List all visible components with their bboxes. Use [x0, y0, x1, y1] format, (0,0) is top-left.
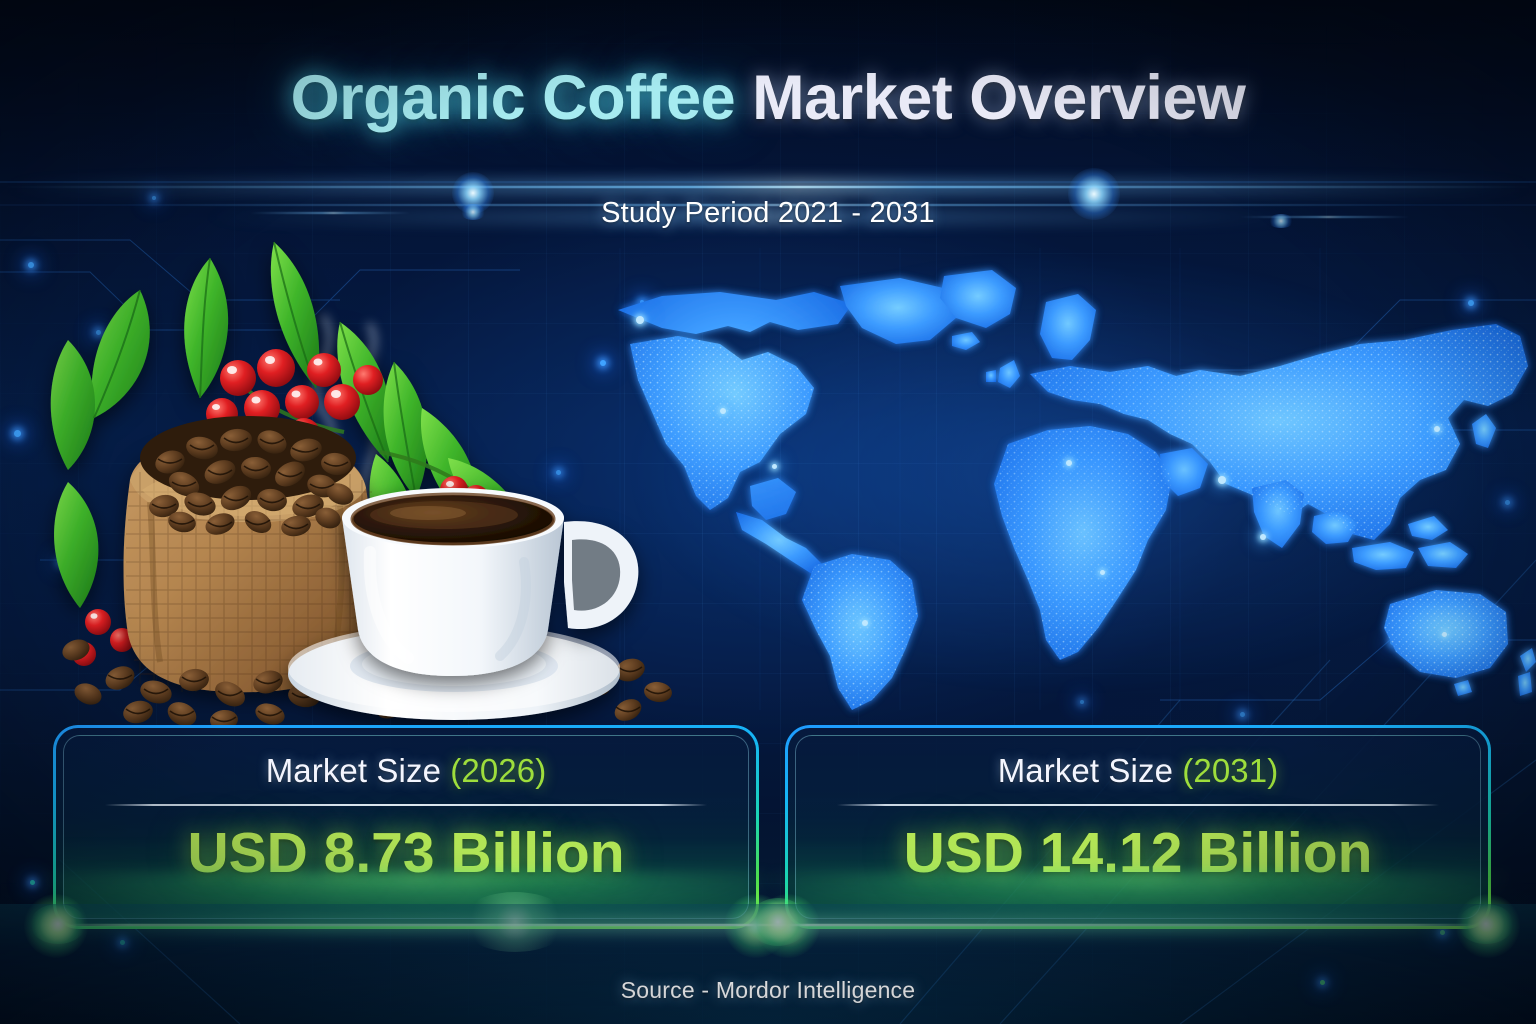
flare-icon	[748, 898, 808, 946]
card-year: (2026)	[450, 752, 546, 789]
title-plain: Market Overview	[735, 63, 1245, 133]
title-accent: Organic Coffee	[291, 63, 736, 133]
page-title: Organic Coffee Market Overview	[0, 62, 1536, 134]
world-map	[600, 248, 1536, 718]
infographic-root: Organic Coffee Market Overview Study Per…	[0, 0, 1536, 1024]
card-label-text: Market Size	[266, 752, 451, 789]
beans-in-sack	[140, 416, 357, 539]
source-credit: Source - Mordor Intelligence	[0, 977, 1536, 1004]
card-label-2026: Market Size (2026)	[266, 752, 547, 790]
card-divider	[105, 804, 707, 806]
flare-icon	[460, 892, 570, 952]
card-value-2026: USD 8.73 Billion	[187, 820, 624, 886]
world-map-svg	[600, 248, 1536, 718]
card-year: (2031)	[1182, 752, 1278, 789]
card-value-2031: USD 14.12 Billion	[904, 820, 1373, 886]
card-divider	[837, 804, 1439, 806]
card-label-2031: Market Size (2031)	[998, 752, 1279, 790]
market-size-cards: Market Size (2026) USD 8.73 Billion Mark…	[0, 728, 1536, 950]
flare-icon	[1458, 904, 1514, 944]
card-label-text: Market Size	[998, 752, 1183, 789]
market-size-card-2026[interactable]: Market Size (2026) USD 8.73 Billion	[56, 728, 756, 926]
study-period-subtitle: Study Period 2021 - 2031	[0, 197, 1536, 230]
flare-icon	[30, 904, 86, 944]
coffee-illustration	[24, 222, 684, 732]
market-size-card-2031[interactable]: Market Size (2031) USD 14.12 Billion	[788, 728, 1488, 926]
